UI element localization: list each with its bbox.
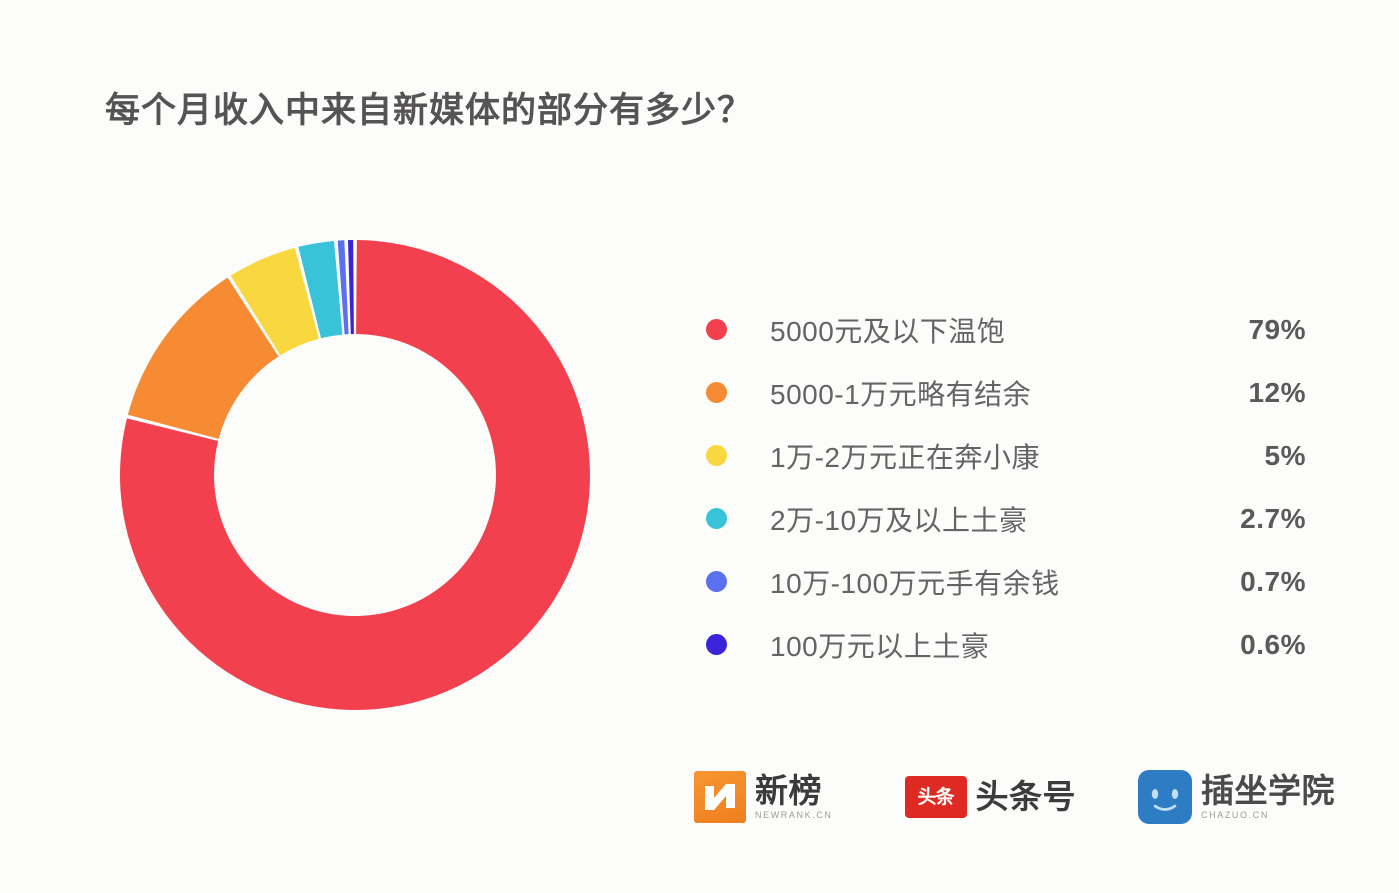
newrank-sub: NEWRANK.CN xyxy=(755,810,833,820)
legend-item-value: 5% xyxy=(1188,440,1306,472)
legend-item-0[interactable]: 5000元及以下温饱 79% xyxy=(706,298,1306,361)
legend-item-label: 5000元及以下温饱 xyxy=(770,310,1188,350)
chazuo-face-icon xyxy=(1138,770,1192,824)
logo-newrank[interactable]: 新榜 NEWRANK.CN xyxy=(694,771,833,823)
legend-item-5[interactable]: 100万元以上土豪 0.6% xyxy=(706,613,1306,676)
legend-item-value: 0.6% xyxy=(1188,629,1306,661)
legend-item-1[interactable]: 5000-1万元略有结余 12% xyxy=(706,361,1306,424)
donut-slices xyxy=(120,240,590,710)
legend-item-label: 2万-10万及以上土豪 xyxy=(770,499,1188,539)
legend-item-value: 12% xyxy=(1188,377,1306,409)
legend-item-label: 100万元以上土豪 xyxy=(770,625,1188,665)
legend-swatch-icon xyxy=(706,445,727,466)
toutiao-mark-icon: 头条 xyxy=(905,776,967,818)
legend-item-label: 10万-100万元手有余钱 xyxy=(770,562,1188,602)
legend-swatch-icon xyxy=(706,634,727,655)
logo-chazuo[interactable]: 插坐学院 CHAZUO.CN xyxy=(1138,770,1335,824)
legend-swatch-icon xyxy=(706,571,727,592)
donut-slice[interactable] xyxy=(348,240,354,334)
chazuo-text: 插坐学院 CHAZUO.CN xyxy=(1201,774,1335,821)
chazuo-name: 插坐学院 xyxy=(1201,774,1335,808)
legend-item-label: 1万-2万元正在奔小康 xyxy=(770,436,1188,476)
logo-toutiao[interactable]: 头条 头条号 xyxy=(905,776,1077,818)
toutiao-name: 头条号 xyxy=(976,780,1077,814)
toutiao-text: 头条号 xyxy=(976,780,1077,814)
legend-item-3[interactable]: 2万-10万及以上土豪 2.7% xyxy=(706,487,1306,550)
legend-item-value: 0.7% xyxy=(1188,566,1306,598)
chazuo-sub: CHAZUO.CN xyxy=(1201,810,1335,820)
page-title: 每个月收入中来自新媒体的部分有多少？ xyxy=(105,82,753,133)
legend-swatch-icon xyxy=(706,382,727,403)
legend-swatch-icon xyxy=(706,319,727,340)
newrank-glyph-icon xyxy=(694,771,746,823)
newrank-name: 新榜 xyxy=(755,774,833,808)
legend-item-2[interactable]: 1万-2万元正在奔小康 5% xyxy=(706,424,1306,487)
legend-item-value: 2.7% xyxy=(1188,503,1306,535)
legend-item-label: 5000-1万元略有结余 xyxy=(770,373,1188,413)
chart-legend: 5000元及以下温饱 79% 5000-1万元略有结余 12% 1万-2万元正在… xyxy=(706,298,1306,676)
newrank-mark-icon xyxy=(694,771,746,823)
chazuo-mark-icon xyxy=(1138,770,1192,824)
donut-chart xyxy=(118,238,592,712)
legend-swatch-icon xyxy=(706,508,727,529)
legend-item-4[interactable]: 10万-100万元手有余钱 0.7% xyxy=(706,550,1306,613)
footer-logos: 新榜 NEWRANK.CN 头条 头条号 插坐学院 CHAZUO.CN xyxy=(694,770,1335,824)
donut-chart-svg xyxy=(118,238,592,712)
newrank-text: 新榜 NEWRANK.CN xyxy=(755,774,833,821)
legend-item-value: 79% xyxy=(1188,314,1306,346)
